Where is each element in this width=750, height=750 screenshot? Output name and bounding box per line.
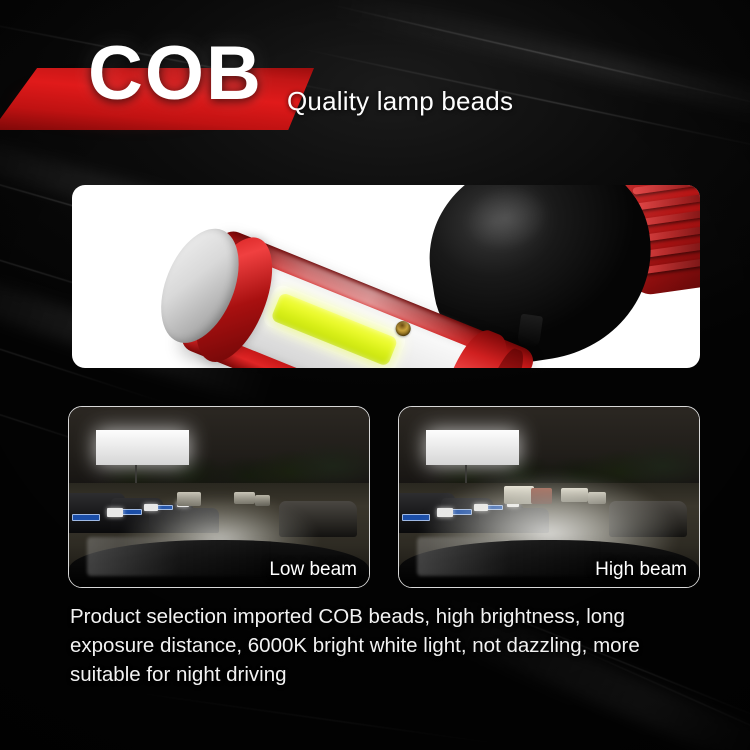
beam-label-high: High beam (595, 559, 687, 581)
billboard-light (96, 430, 189, 464)
product-photo-card (72, 185, 700, 368)
page-subtitle: Quality lamp beads (287, 86, 513, 117)
beam-comparison-row: Low beam (68, 406, 700, 588)
promo-banner-stage: COB Quality lamp beads (0, 0, 750, 750)
product-description: Product selection imported COB beads, hi… (70, 602, 695, 689)
beam-card-low: Low beam (68, 406, 370, 588)
page-title: COB (88, 36, 263, 112)
header: COB Quality lamp beads (0, 0, 750, 150)
product-photo (72, 185, 700, 368)
beam-label-low: Low beam (269, 559, 357, 581)
beam-card-high: High beam (398, 406, 700, 588)
